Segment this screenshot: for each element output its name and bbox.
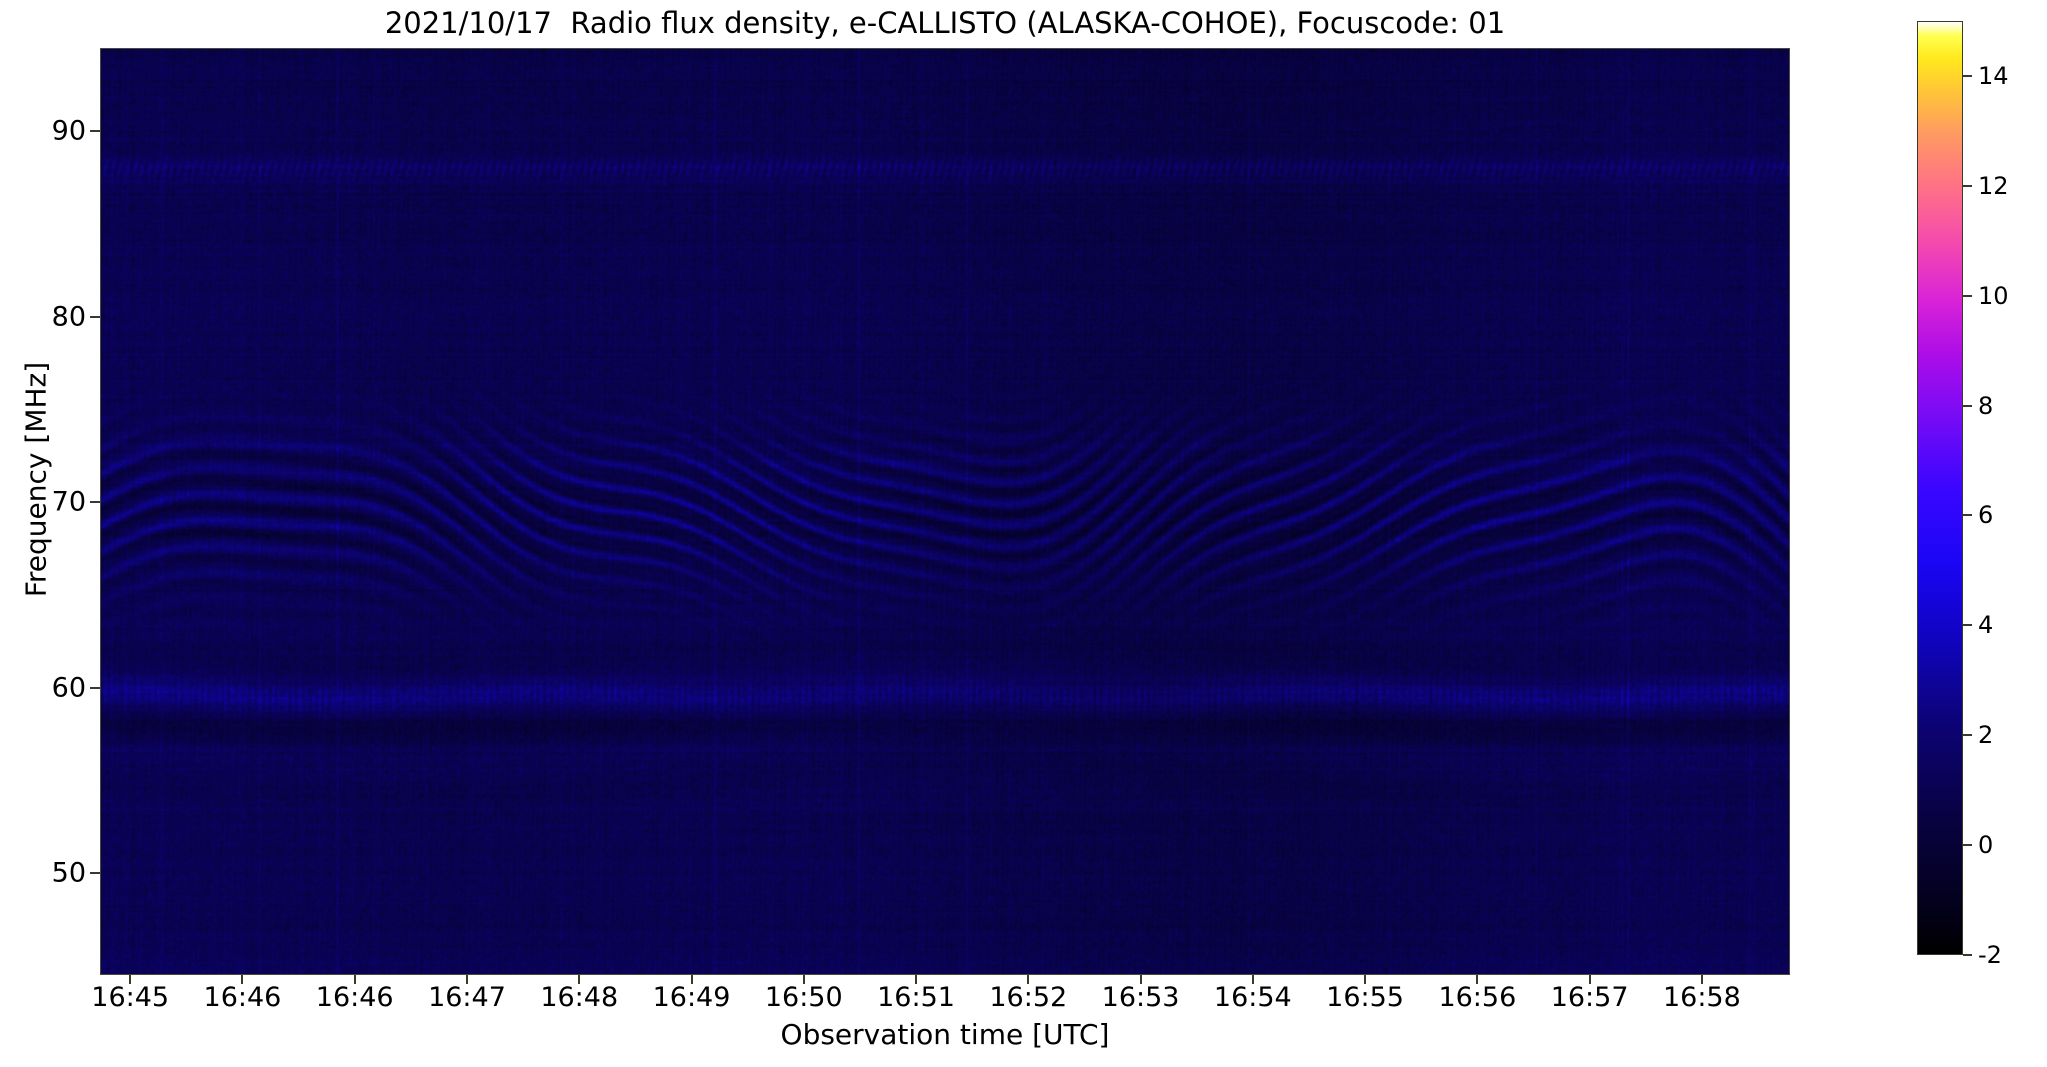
colorbar-tick-mark	[1963, 734, 1972, 736]
y-tick-mark	[90, 130, 100, 132]
colorbar-tick-mark	[1963, 295, 1972, 297]
x-tick-mark	[1476, 975, 1478, 984]
x-tick-mark	[578, 975, 580, 984]
colorbar-tick-mark	[1963, 844, 1972, 846]
y-tick-mark	[90, 687, 100, 689]
x-tick-mark	[915, 975, 917, 984]
x-tick-label: 16:46	[204, 982, 282, 1013]
page-title: 2021/10/17 Radio flux density, e-CALLIST…	[100, 6, 1790, 40]
colorbar-tick-label: 4	[1978, 611, 1993, 639]
x-tick-label: 16:48	[540, 982, 618, 1013]
colorbar-tick-label: 10	[1978, 282, 2009, 310]
x-axis-title: Observation time [UTC]	[100, 1018, 1790, 1051]
spectrogram-plot-area	[100, 48, 1790, 975]
y-tick-label: 60	[52, 672, 86, 703]
spectrogram-figure: 2021/10/17 Radio flux density, e-CALLIST…	[0, 0, 2047, 1067]
y-tick-label: 80	[52, 301, 86, 332]
x-tick-label: 16:51	[877, 982, 955, 1013]
x-tick-label: 16:52	[989, 982, 1067, 1013]
colorbar-tick-label: 6	[1978, 501, 1993, 529]
x-tick-mark	[1252, 975, 1254, 984]
x-tick-label: 16:58	[1663, 982, 1741, 1013]
x-tick-mark	[1701, 975, 1703, 984]
x-tick-mark	[1589, 975, 1591, 984]
colorbar-tick-label: 0	[1978, 831, 1993, 859]
colorbar-tick-mark	[1963, 624, 1972, 626]
x-tick-mark	[1364, 975, 1366, 984]
x-tick-label: 16:46	[316, 982, 394, 1013]
colorbar-gradient	[1917, 21, 1963, 955]
colorbar-tick-label: -2	[1978, 941, 2002, 969]
x-tick-label: 16:55	[1326, 982, 1404, 1013]
x-tick-label: 16:49	[653, 982, 731, 1013]
x-tick-label: 16:47	[428, 982, 506, 1013]
x-tick-label: 16:53	[1102, 982, 1180, 1013]
y-axis-title: Frequency [MHz]	[20, 230, 53, 730]
x-tick-label: 16:56	[1438, 982, 1516, 1013]
y-tick-mark	[90, 872, 100, 874]
colorbar-tick-label: 8	[1978, 392, 1993, 420]
x-tick-mark	[466, 975, 468, 984]
x-tick-mark	[803, 975, 805, 984]
colorbar-tick-mark	[1963, 185, 1972, 187]
x-tick-mark	[129, 975, 131, 984]
y-tick-label: 90	[52, 116, 86, 147]
colorbar	[1917, 21, 1963, 955]
colorbar-tick-mark	[1963, 405, 1972, 407]
y-tick-label: 70	[52, 487, 86, 518]
spectrogram-image	[101, 49, 1789, 974]
x-tick-mark	[1027, 975, 1029, 984]
x-tick-label: 16:50	[765, 982, 843, 1013]
x-tick-mark	[241, 975, 243, 984]
x-tick-mark	[354, 975, 356, 984]
colorbar-tick-label: 14	[1978, 62, 2009, 90]
colorbar-tick-mark	[1963, 954, 1972, 956]
colorbar-tick-mark	[1963, 514, 1972, 516]
x-tick-label: 16:57	[1551, 982, 1629, 1013]
x-tick-mark	[1140, 975, 1142, 984]
x-tick-mark	[691, 975, 693, 984]
colorbar-tick-mark	[1963, 75, 1972, 77]
colorbar-tick-label: 2	[1978, 721, 1993, 749]
y-tick-mark	[90, 316, 100, 318]
y-tick-label: 50	[52, 858, 86, 889]
x-tick-label: 16:54	[1214, 982, 1292, 1013]
x-tick-label: 16:45	[91, 982, 169, 1013]
colorbar-tick-label: 12	[1978, 172, 2009, 200]
y-tick-mark	[90, 501, 100, 503]
